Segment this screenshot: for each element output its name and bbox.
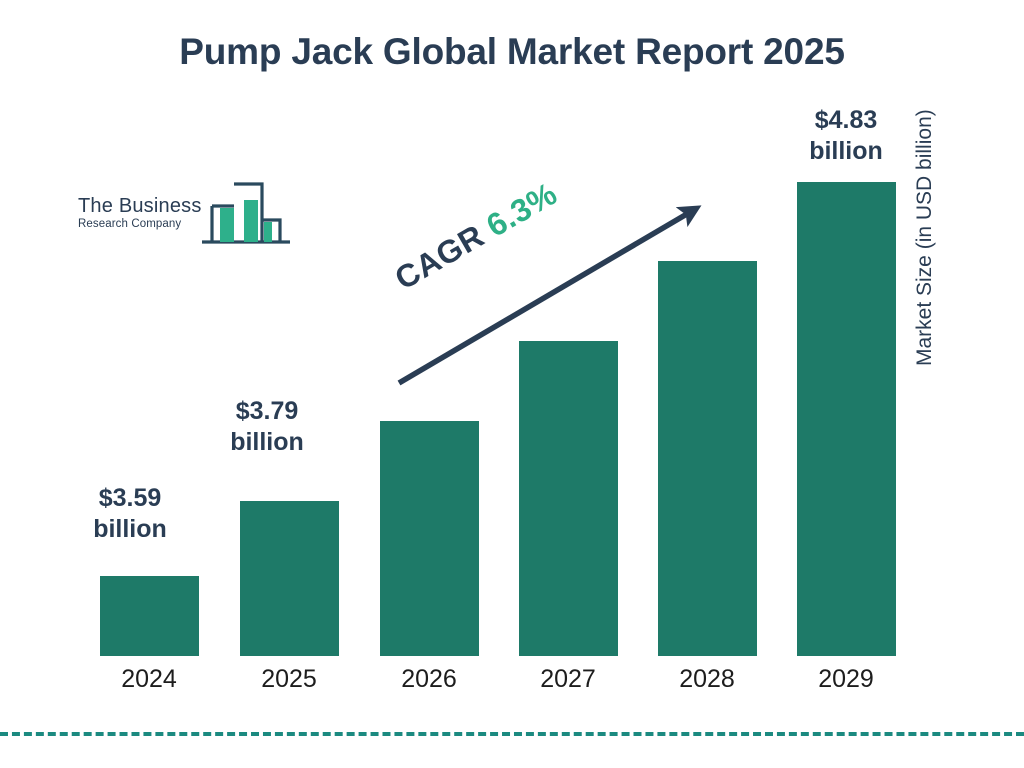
- bar-2027[interactable]: [519, 341, 618, 656]
- bar-2028[interactable]: [658, 261, 757, 656]
- y-axis-title: Market Size (in USD billion): [913, 36, 947, 366]
- bar-value-unit-2025: billion: [197, 427, 337, 458]
- bar-value-unit-2029: billion: [776, 136, 916, 167]
- x-tick-2025: 2025: [219, 665, 359, 694]
- bar-2024[interactable]: [100, 576, 199, 656]
- footer-divider: [0, 732, 1024, 736]
- bar-2029[interactable]: [797, 182, 896, 656]
- bar-value-label-2025: $3.79 billion: [197, 396, 337, 457]
- x-tick-2026: 2026: [359, 665, 499, 694]
- bar-value-label-2029: $4.83 billion: [776, 105, 916, 166]
- bar-value-label-2024: $3.59 billion: [60, 483, 200, 544]
- x-tick-2029: 2029: [776, 665, 916, 694]
- chart-canvas: Pump Jack Global Market Report 2025 The …: [0, 0, 1024, 768]
- bar-value-unit-2024: billion: [60, 514, 200, 545]
- x-tick-2028: 2028: [637, 665, 777, 694]
- x-tick-2024: 2024: [79, 665, 219, 694]
- bar-value-amount-2024: $3.59: [60, 483, 200, 514]
- bar-2025[interactable]: [240, 501, 339, 656]
- bar-2026[interactable]: [380, 421, 479, 656]
- plot-area: $3.59 billion 2024 $3.79 billion 2025 20…: [0, 0, 1024, 768]
- bar-value-amount-2025: $3.79: [197, 396, 337, 427]
- bar-value-amount-2029: $4.83: [776, 105, 916, 136]
- x-tick-2027: 2027: [498, 665, 638, 694]
